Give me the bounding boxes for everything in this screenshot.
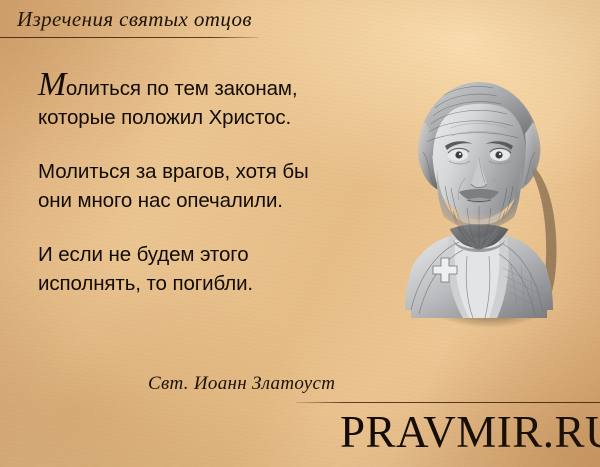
quote-paragraph-1-text: олиться по тем законам, [66, 77, 298, 100]
quote-attribution: Свт. Иоанн Златоуст [148, 373, 335, 395]
quote-card: Изречения святых отцов Молиться по тем з… [0, 0, 600, 467]
quote-paragraph-2: Молиться за врагов, хотя быони много нас… [38, 157, 393, 215]
header-divider [0, 37, 259, 38]
quote-paragraph-3-line2: исполнять, то погибли. [38, 272, 253, 295]
quote-paragraph-1-line2: которые положил Христос. [38, 106, 291, 129]
quote-dropcap: М [38, 66, 66, 103]
quote-paragraph-2-line2: они много нас опечалили. [38, 189, 283, 212]
site-watermark: PRAVMIR.RU [340, 406, 600, 458]
quote-paragraph-2-line1: Молиться за врагов, хотя бы [38, 160, 309, 183]
quote-text: Молиться по тем законам,которые положил … [38, 74, 393, 298]
quote-paragraph-3-line1: И если не будем этого [38, 243, 249, 266]
quote-paragraph-3: И если не будем этогоисполнять, то погиб… [38, 240, 393, 298]
saint-john-chrysostom-portrait [393, 60, 565, 328]
attribution-divider [296, 402, 600, 403]
page-title: Изречения святых отцов [17, 7, 252, 32]
quote-paragraph-1: Молиться по тем законам,которые положил … [38, 74, 393, 132]
